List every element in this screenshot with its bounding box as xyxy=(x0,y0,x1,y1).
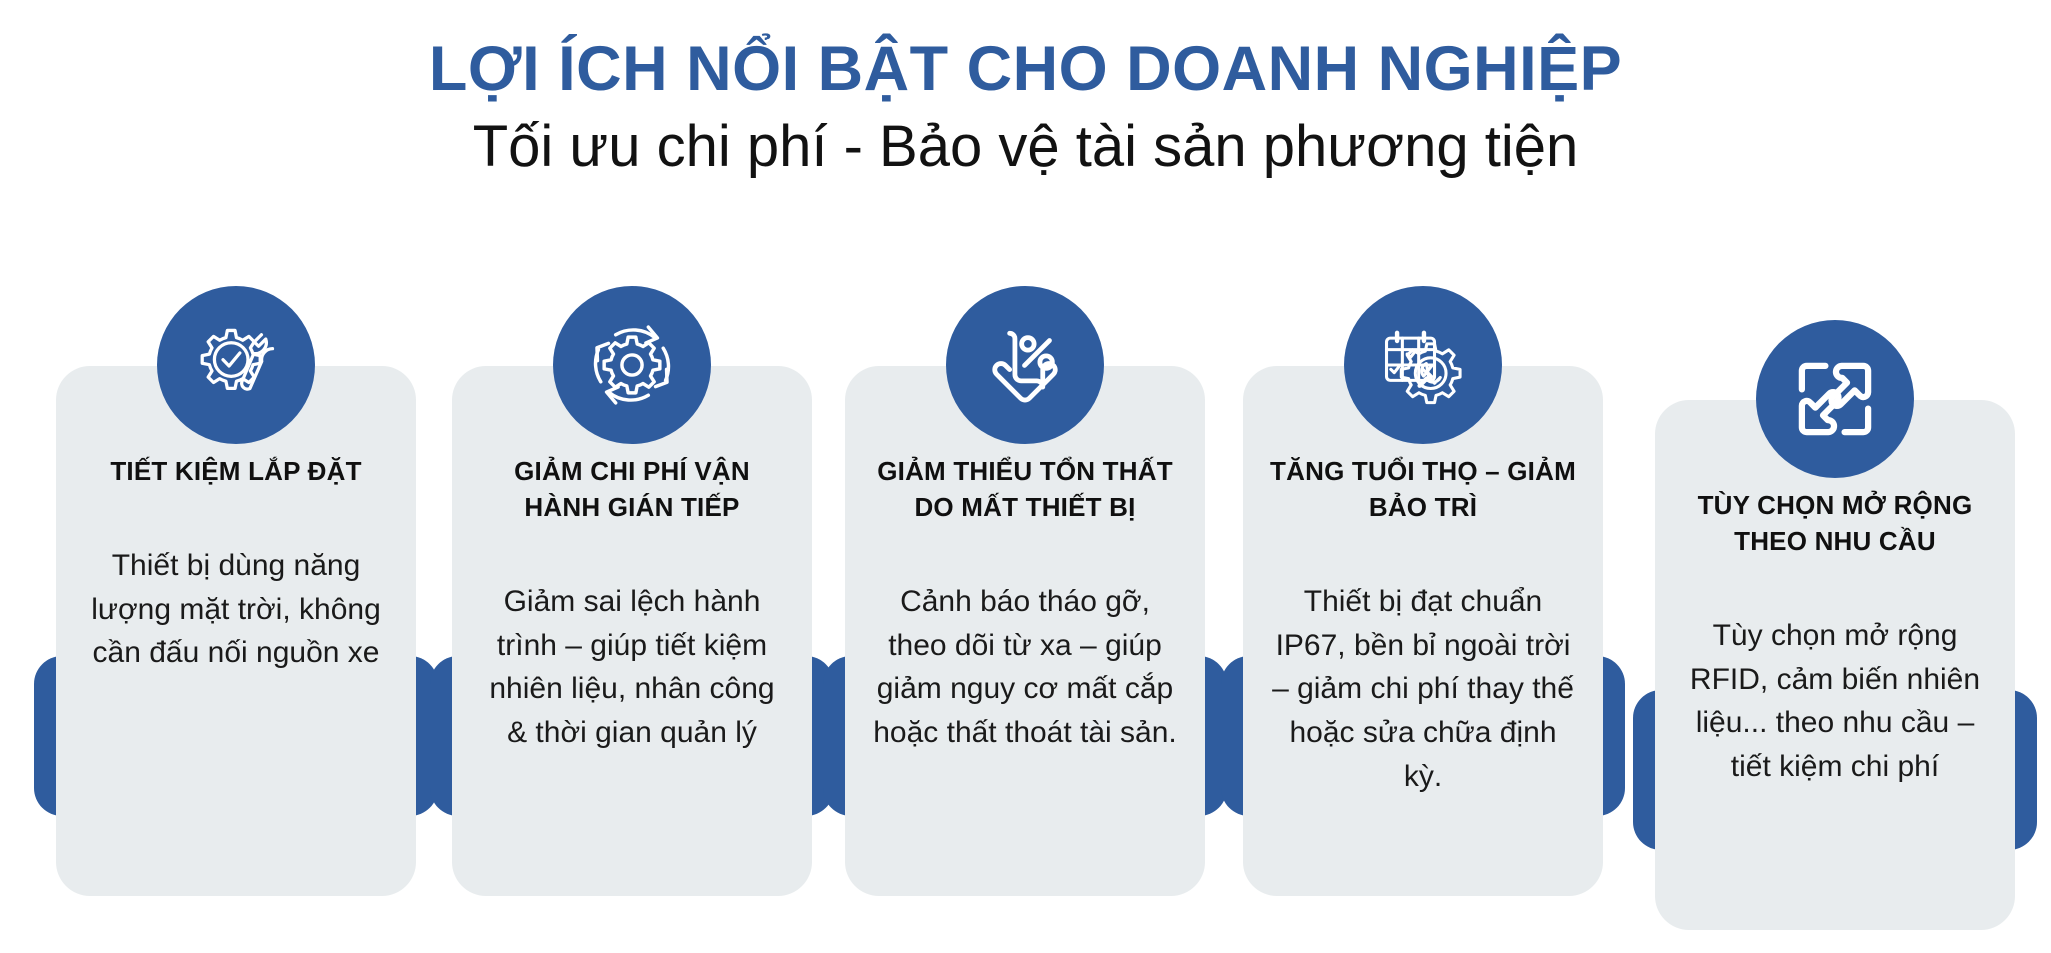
benefit-card-deck: TIẾT KIỆM LẮP ĐẶT Thiết bị dùng năng lượ… xyxy=(0,0,2051,953)
benefit-card-1[interactable]: TIẾT KIỆM LẮP ĐẶT Thiết bị dùng năng lượ… xyxy=(56,366,416,896)
card-surface[interactable]: GIẢM CHI PHÍ VẬN HÀNH GIÁN TIẾP Giảm sai… xyxy=(452,366,812,896)
benefit-card-2[interactable]: GIẢM CHI PHÍ VẬN HÀNH GIÁN TIẾP Giảm sai… xyxy=(452,366,812,896)
percent-down-arrow-icon xyxy=(946,286,1104,444)
expand-arrows-icon xyxy=(1756,320,1914,478)
card-surface[interactable]: TĂNG TUỔI THỌ – GIẢM BẢO TRÌ Thiết bị đạ… xyxy=(1243,366,1603,896)
card-title: GIẢM THIỂU TỔN THẤT DO MẤT THIẾT BỊ xyxy=(871,454,1179,526)
card-title: TIẾT KIỆM LẮP ĐẶT xyxy=(82,454,390,490)
card-title: GIẢM CHI PHÍ VẬN HÀNH GIÁN TIẾP xyxy=(478,454,786,526)
infographic-slide: LỢI ÍCH NỔI BẬT CHO DOANH NGHIỆP Tối ưu … xyxy=(0,0,2051,953)
card-title: TĂNG TUỔI THỌ – GIẢM BẢO TRÌ xyxy=(1269,454,1577,526)
benefit-card-5[interactable]: TÙY CHỌN MỞ RỘNG THEO NHU CẦU Tùy chọn m… xyxy=(1655,400,2015,930)
benefit-card-4[interactable]: TĂNG TUỔI THỌ – GIẢM BẢO TRÌ Thiết bị đạ… xyxy=(1243,366,1603,896)
gear-cycle-arrows-icon xyxy=(553,286,711,444)
card-body: Tùy chọn mở rộng RFID, cảm biến nhiên li… xyxy=(1681,614,1989,789)
gear-check-wrench-icon xyxy=(157,286,315,444)
card-body: Thiết bị đạt chuẩn IP67, bền bỉ ngoài tr… xyxy=(1269,580,1577,799)
card-body: Thiết bị dùng năng lượng mặt trời, không… xyxy=(82,544,390,675)
card-body: Giảm sai lệch hành trình – giúp tiết kiệ… xyxy=(478,580,786,755)
card-title: TÙY CHỌN MỞ RỘNG THEO NHU CẦU xyxy=(1681,488,1989,560)
card-surface[interactable]: GIẢM THIỂU TỔN THẤT DO MẤT THIẾT BỊ Cảnh… xyxy=(845,366,1205,896)
card-surface[interactable]: TIẾT KIỆM LẮP ĐẶT Thiết bị dùng năng lượ… xyxy=(56,366,416,896)
card-body: Cảnh báo tháo gỡ, theo dõi từ xa – giúp … xyxy=(871,580,1179,755)
benefit-card-3[interactable]: GIẢM THIỂU TỔN THẤT DO MẤT THIẾT BỊ Cảnh… xyxy=(845,366,1205,896)
card-surface[interactable]: TÙY CHỌN MỞ RỘNG THEO NHU CẦU Tùy chọn m… xyxy=(1655,400,2015,930)
calendar-gear-wrench-icon xyxy=(1344,286,1502,444)
